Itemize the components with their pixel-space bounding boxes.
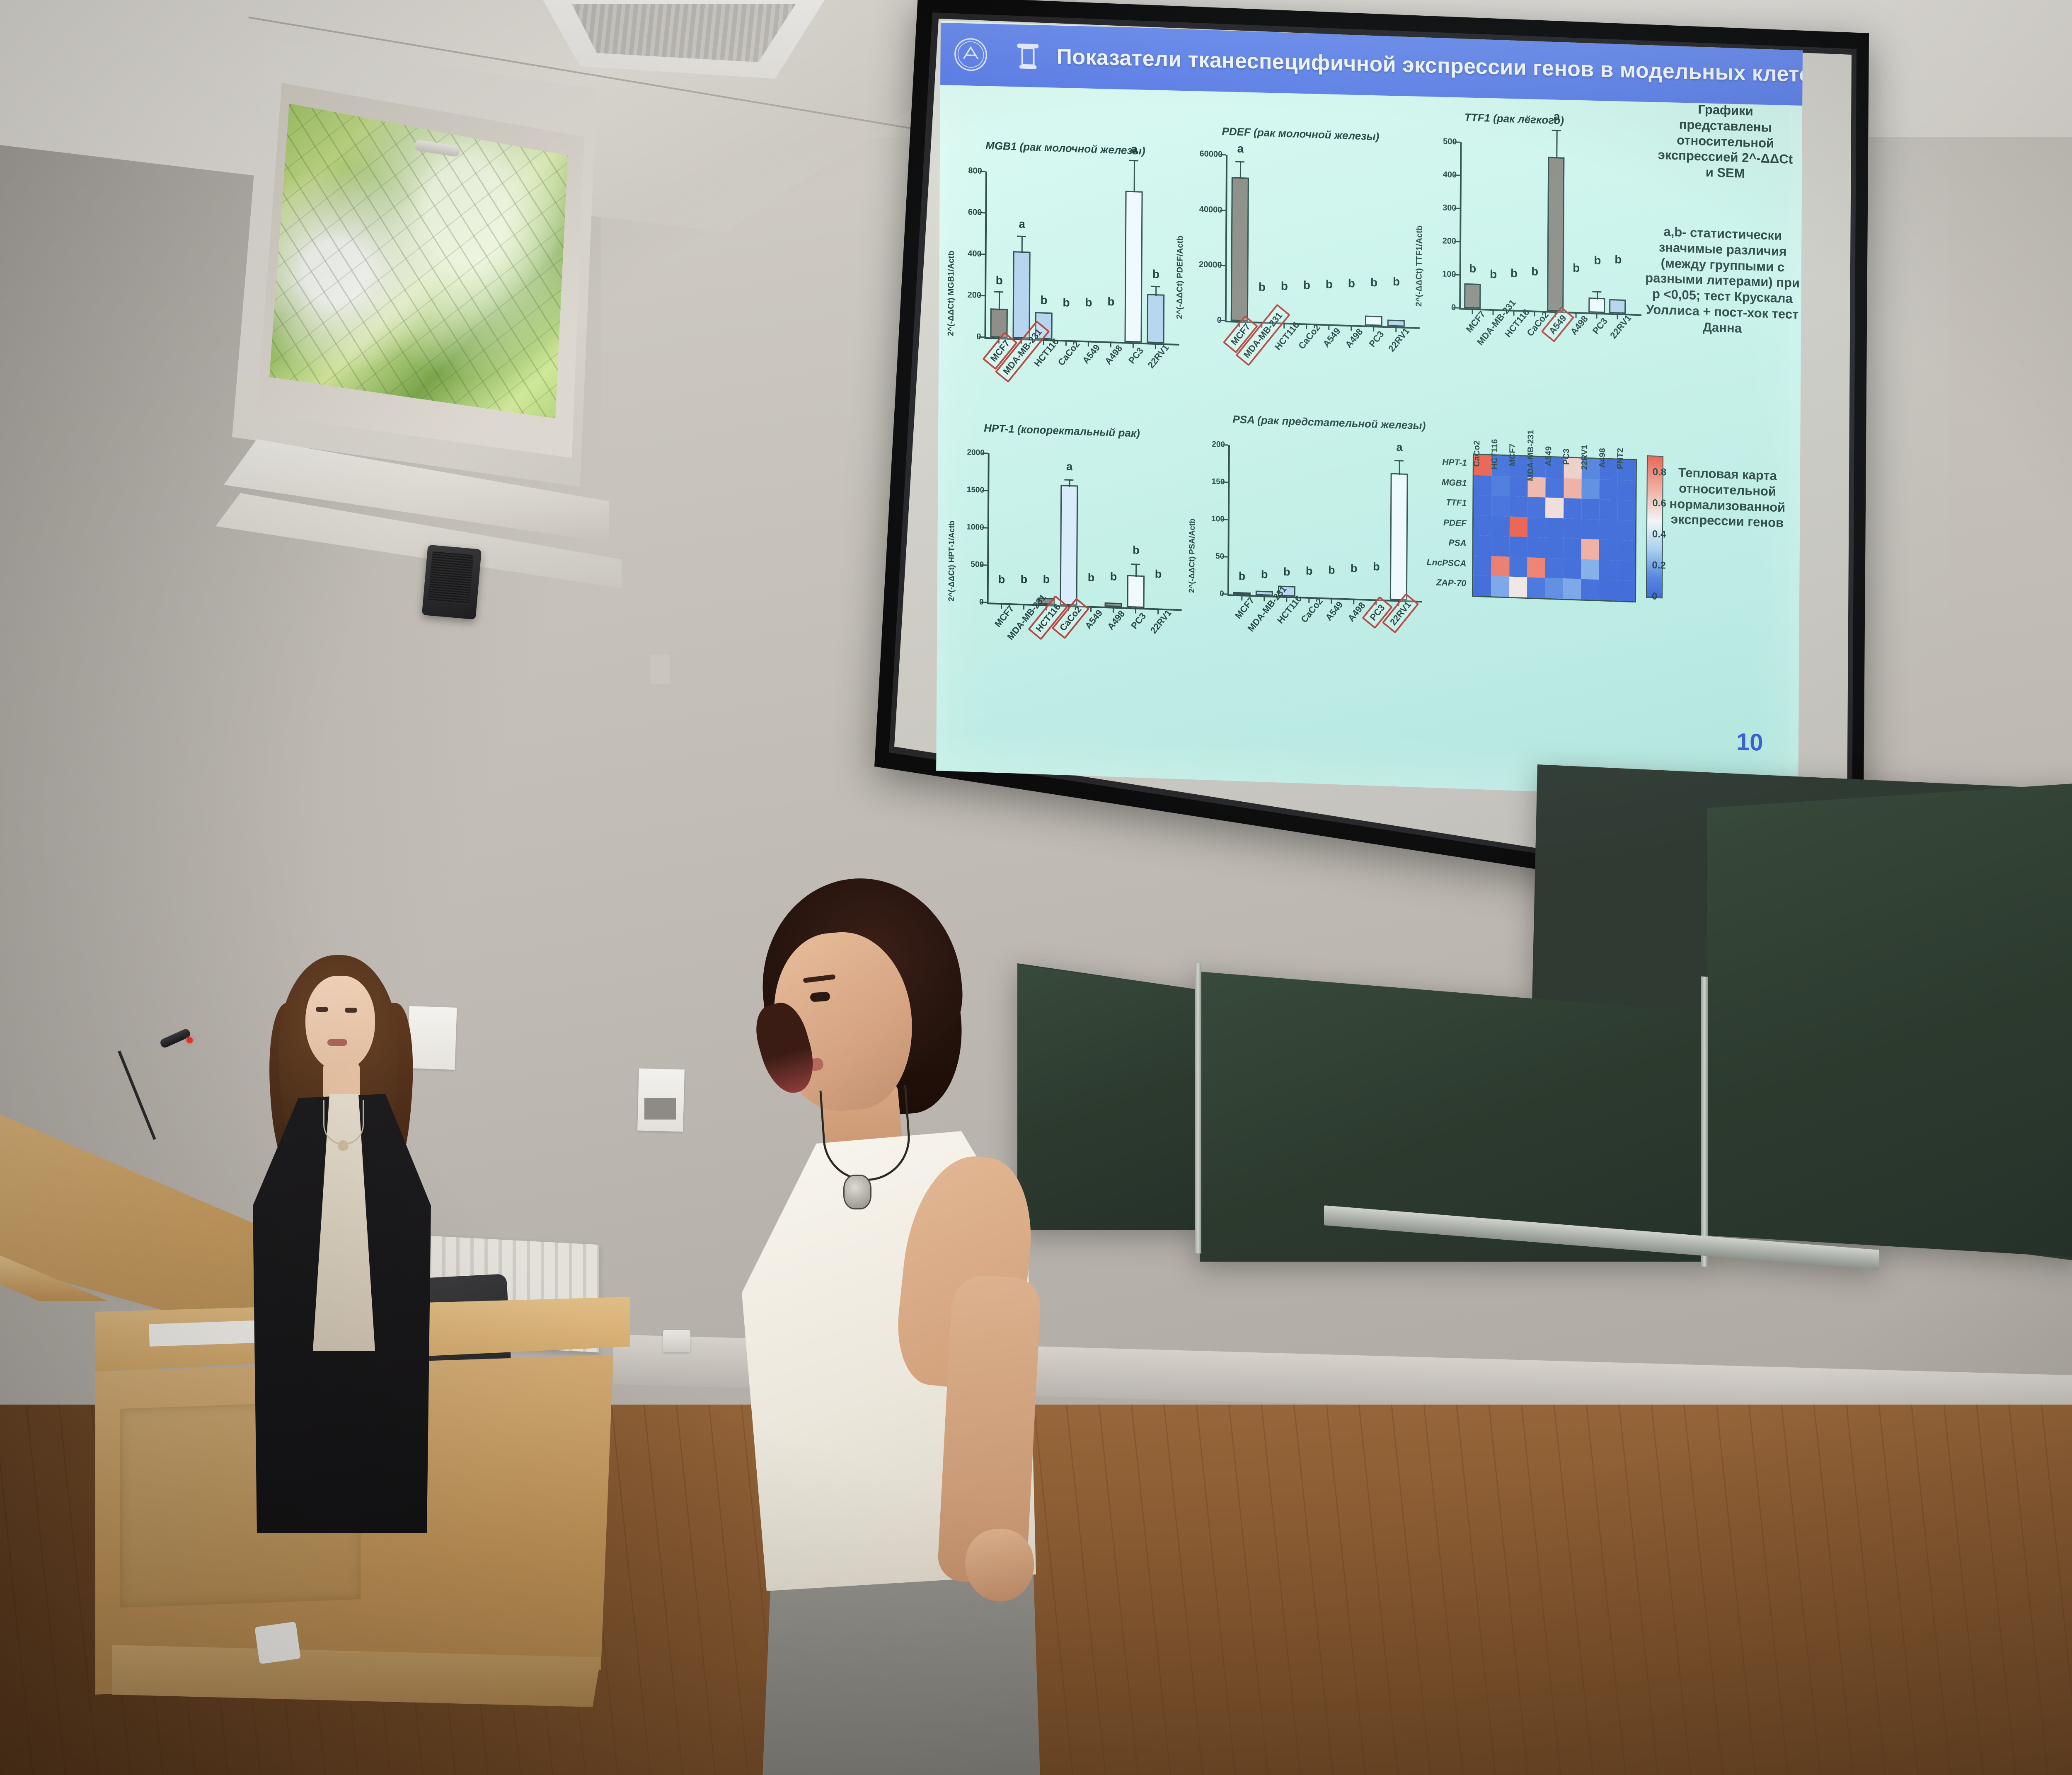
sig-letter: b xyxy=(1283,566,1290,579)
heatmap-row-label: HPT-1 xyxy=(1442,457,1467,468)
bar xyxy=(1060,485,1078,605)
heatmap-cell xyxy=(1617,500,1636,521)
slide-title: Показатели тканеспецифичной экспрессии г… xyxy=(1056,44,1803,91)
heatmap-cell xyxy=(1564,498,1582,519)
sig-letter: b xyxy=(1469,262,1476,276)
xlabel: PC3 xyxy=(1590,316,1610,336)
heatmap-cell xyxy=(1545,538,1564,559)
heatmap-col-label: 22RV1 xyxy=(1580,445,1590,470)
heatmap-cell xyxy=(1617,540,1635,561)
note-statistics: a,b- статистически значимые различия (ме… xyxy=(1644,223,1802,339)
heatmap-cell xyxy=(1581,579,1599,600)
note-methods: Графики представлены относительной экспр… xyxy=(1653,100,1798,183)
heatmap-col-label: MCF7 xyxy=(1508,443,1518,466)
sig-letter: b xyxy=(1133,544,1140,557)
heatmap-cell xyxy=(1509,556,1527,577)
bar xyxy=(1547,157,1564,312)
heatmap-col-label: A549 xyxy=(1544,446,1554,467)
xlabel: PC3 xyxy=(1367,329,1386,350)
sig-letter: b xyxy=(1281,279,1288,293)
xlabel: A498 xyxy=(1343,326,1365,350)
heatmap-cell xyxy=(1599,580,1617,600)
sig-letter: a xyxy=(1396,441,1402,454)
eye-right xyxy=(345,1008,357,1013)
ytick: 40000 xyxy=(1199,205,1222,215)
heatmap-panel: HPT-1 MGB1 TTF1 PDEF PSA LncPSCA ZAP-70 … xyxy=(1472,454,1651,621)
chalkboard-divider-1 xyxy=(1195,963,1201,1253)
mouth xyxy=(327,1039,347,1046)
ytick: 20000 xyxy=(1199,260,1222,270)
heatmap-cell xyxy=(1546,477,1564,498)
chart-psa-ylabel: 2^(-ΔΔCt) PSA/Actb xyxy=(1188,518,1197,593)
chart-mgb1: MGB1 (рак молочной железы) 2^(-ΔΔCt) MGB… xyxy=(984,172,1180,373)
sig-letter: b xyxy=(1510,267,1518,281)
bar xyxy=(1365,315,1382,326)
sig-letter: b xyxy=(1306,565,1313,578)
heatmap-cell xyxy=(1509,516,1527,537)
sig-letter: b xyxy=(1063,296,1070,310)
heatmap-row-label: ZAP-70 xyxy=(1436,578,1467,589)
sig-letter: b xyxy=(1373,560,1380,573)
heatmap-cell xyxy=(1545,498,1564,518)
sig-letter: b xyxy=(1152,268,1159,281)
heatmap-cell xyxy=(1492,476,1510,496)
ceiling-light-grille xyxy=(572,4,796,62)
heatmap-cell xyxy=(1599,539,1617,560)
heatmap-cell xyxy=(1491,536,1510,556)
university-emblem-icon xyxy=(1010,38,1046,74)
heatmap-cell xyxy=(1563,579,1581,600)
heatmap-col-label: PNT2 xyxy=(1616,448,1625,469)
heatmap-cell xyxy=(1545,518,1564,538)
bar xyxy=(1147,294,1164,343)
bar xyxy=(1387,319,1405,326)
heatmap-cell xyxy=(1527,497,1546,518)
lecture-hall-photo: Показатели тканеспецифичной экспрессии г… xyxy=(0,0,2072,1775)
sig-letter: a xyxy=(1066,460,1072,474)
heatmap-cell xyxy=(1581,559,1599,580)
sig-letter: b xyxy=(1110,570,1117,583)
chalkboard-divider-2 xyxy=(1701,976,1708,1267)
xlabel: 22RV1 xyxy=(1148,608,1174,636)
chart-ttf1: TTF1 (рак лёгкого) 2^(-ΔΔCt) TTF1/Actb 0… xyxy=(1459,142,1643,343)
colorbar-tick: 0.4 xyxy=(1652,528,1666,540)
bar xyxy=(1231,177,1249,321)
heatmap-cell xyxy=(1527,557,1545,578)
bar xyxy=(1609,299,1626,314)
sig-letter: b xyxy=(998,573,1005,586)
chart-ttf1-ylabel: 2^(-ΔΔCt) TTF1/Actb xyxy=(1414,225,1424,307)
chart-psa: PSA (рак предстательной железы) 2^(-ΔΔCt… xyxy=(1227,445,1423,630)
heatmap-cell xyxy=(1564,478,1582,499)
heatmap-cell xyxy=(1473,555,1491,576)
note-heatmap: Тепловая карта относительной нормализова… xyxy=(1655,464,1800,532)
heatmap-cell xyxy=(1527,537,1546,558)
heatmap-col-label: A498 xyxy=(1598,448,1607,468)
sig-letter: a xyxy=(1554,110,1560,123)
heatmap-cell xyxy=(1581,499,1600,520)
xlabel: A549 xyxy=(1321,326,1343,349)
bar xyxy=(1588,297,1605,313)
sig-letter: a xyxy=(1131,143,1138,156)
xlabel: 22RV1 xyxy=(1608,313,1634,341)
heatmap-col-label: MDA-MB-231 xyxy=(1526,430,1536,481)
chart-hpt1: HPT-1 (копоректальный рак) 2^(-ΔΔCt) HPT… xyxy=(987,453,1183,638)
heatmap-grid xyxy=(1472,454,1637,603)
sig-letter: b xyxy=(1043,573,1050,586)
sig-letter: b xyxy=(1594,254,1601,267)
heatmap-cell xyxy=(1563,559,1581,579)
heatmap-cell xyxy=(1474,535,1492,556)
bar xyxy=(1124,191,1143,342)
ytick: 60000 xyxy=(1200,149,1223,160)
face xyxy=(305,976,375,1071)
xlabel: A498 xyxy=(1105,608,1127,632)
bar xyxy=(1012,251,1030,339)
heatmap-cell xyxy=(1545,558,1564,578)
heatmap-cell xyxy=(1474,475,1492,496)
sig-letter: b xyxy=(1085,296,1092,310)
sig-letter: b xyxy=(1531,265,1538,278)
wall-notice-left xyxy=(407,1006,457,1070)
sig-letter: b xyxy=(996,274,1003,288)
heatmap-col-label: CaCo2 xyxy=(1472,440,1482,467)
xlabel: A498 xyxy=(1103,343,1125,367)
eye-left xyxy=(316,1007,328,1012)
heatmap-cell xyxy=(1563,538,1581,559)
heatmap-cell xyxy=(1599,499,1617,520)
heatmap-col-label: HCT116 xyxy=(1490,439,1500,469)
speaker-grille xyxy=(428,551,474,605)
heatmap-cell xyxy=(1600,479,1618,500)
xlabel: 22RV1 xyxy=(1146,342,1172,370)
heatmap-cell xyxy=(1599,520,1617,540)
heatmap-row-label: PDEF xyxy=(1443,518,1467,529)
sig-letter: b xyxy=(1490,268,1497,281)
heatmap-cell xyxy=(1510,496,1528,517)
chart-hpt1-title: HPT-1 (копоректальный рак) xyxy=(984,422,1140,440)
bar xyxy=(1390,473,1408,600)
xlabel: A549 xyxy=(1080,342,1102,366)
bar xyxy=(1105,602,1122,607)
colorbar-tick: 0 xyxy=(1652,590,1658,602)
eye xyxy=(810,991,830,1002)
sig-letter: b xyxy=(1303,278,1310,292)
heatmap-cell xyxy=(1491,576,1509,597)
chart-psa-title: PSA (рак предстательной железы) xyxy=(1232,413,1426,432)
chart-mgb1-ylabel: 2^(-ΔΔCt) MGB1/Actb xyxy=(946,251,956,336)
heatmap-cell xyxy=(1617,480,1636,501)
heatmap-cell xyxy=(1527,578,1545,598)
presentation-slide: Показатели тканеспецифичной экспрессии г… xyxy=(936,21,1803,800)
heatmap-cell xyxy=(1527,517,1546,538)
bar xyxy=(1256,590,1273,595)
institute-seal-icon xyxy=(953,36,988,73)
sig-letter: b xyxy=(1326,278,1333,291)
heatmap-col-label: PC3 xyxy=(1562,448,1571,465)
slide-title-bar: Показатели тканеспецифичной экспрессии г… xyxy=(936,22,1803,106)
sig-letter: b xyxy=(1040,293,1047,307)
chalkboard xyxy=(1017,764,2072,1289)
heatmap-row-label: PSA xyxy=(1448,538,1466,549)
bar xyxy=(1127,575,1145,608)
sig-letter: b xyxy=(1370,276,1377,290)
chart-pdef: PDEF (рак молочной железы) 2^(-ΔΔCt) PDE… xyxy=(1225,155,1421,356)
xlabel: A549 xyxy=(1323,600,1345,623)
necklace xyxy=(323,1100,364,1145)
sig-letter: a xyxy=(1237,142,1244,156)
heatmap-cell xyxy=(1509,537,1527,557)
bar xyxy=(1464,283,1481,309)
heatmap-cell xyxy=(1510,476,1528,497)
sig-letter: b xyxy=(1328,564,1335,577)
heatmap-cell xyxy=(1491,496,1510,516)
chalkboard-panel-left xyxy=(1017,965,1196,1230)
chalkboard-panel-right xyxy=(1707,783,2072,1264)
heatmap-cell xyxy=(1509,577,1527,597)
sig-letter: b xyxy=(1348,277,1355,290)
heatmap-cell xyxy=(1563,518,1581,539)
sig-letter: b xyxy=(1351,562,1358,575)
heatmap-cell xyxy=(1545,578,1563,599)
heatmap-cell xyxy=(1474,515,1492,536)
xlabel: 22RV1 xyxy=(1386,326,1412,354)
heatmap-cell xyxy=(1617,520,1635,541)
sig-letter: b xyxy=(1088,571,1095,585)
sig-letter: b xyxy=(1107,295,1114,309)
wall-notice-image xyxy=(644,1098,676,1120)
wall-socket-upper xyxy=(651,655,670,684)
sig-letter: b xyxy=(1259,281,1266,294)
sig-letter: b xyxy=(1615,253,1622,266)
sig-letter: a xyxy=(1019,218,1025,231)
heatmap-cell xyxy=(1491,556,1510,577)
chart-mgb1-title: MGB1 (рак молочной железы) xyxy=(985,139,1145,157)
chart-pdef-ylabel: 2^(-ΔΔCt) PDEF/Actb xyxy=(1175,235,1185,319)
heatmap-row-label: TTF1 xyxy=(1446,498,1467,508)
chart-ttf1-title: TTF1 (рак лёгкого) xyxy=(1464,111,1564,127)
microphone-led-icon xyxy=(186,1037,193,1043)
heatmap-cell xyxy=(1473,576,1491,596)
pendant xyxy=(338,1140,349,1151)
xlabel: PC3 xyxy=(1126,346,1146,366)
sig-letter: b xyxy=(1239,570,1246,583)
heatmap-row-label: MGB1 xyxy=(1442,478,1467,488)
chart-hpt1-ylabel: 2^(-ΔΔCt) HPT-1/Actb xyxy=(947,520,957,601)
heatmap-cell xyxy=(1617,580,1635,601)
floor-item xyxy=(254,1621,301,1664)
heatmap-cell xyxy=(1474,495,1492,516)
pendant xyxy=(843,1175,871,1209)
heatmap-cell xyxy=(1617,560,1635,581)
sig-letter: b xyxy=(1393,275,1400,289)
wall-outlet xyxy=(663,1330,690,1352)
xlabel: PC3 xyxy=(1129,611,1148,631)
heatmap-cell xyxy=(1599,560,1617,580)
heatmap-cell xyxy=(1491,516,1510,537)
slide-page-number: 10 xyxy=(1736,728,1763,757)
sig-letter: b xyxy=(1261,568,1268,581)
heatmap-row-label: LncPSCA xyxy=(1427,558,1467,569)
sig-letter: b xyxy=(1573,261,1580,275)
colorbar-tick: 0.2 xyxy=(1652,559,1666,571)
sig-letter: b xyxy=(1021,573,1028,586)
sig-letter: b xyxy=(1155,568,1162,581)
chart-pdef-title: PDEF (рак молочной железы) xyxy=(1222,125,1379,143)
heatmap-cell xyxy=(1581,479,1600,499)
heatmap-cell xyxy=(1581,519,1600,539)
heatmap-cell xyxy=(1581,539,1600,560)
